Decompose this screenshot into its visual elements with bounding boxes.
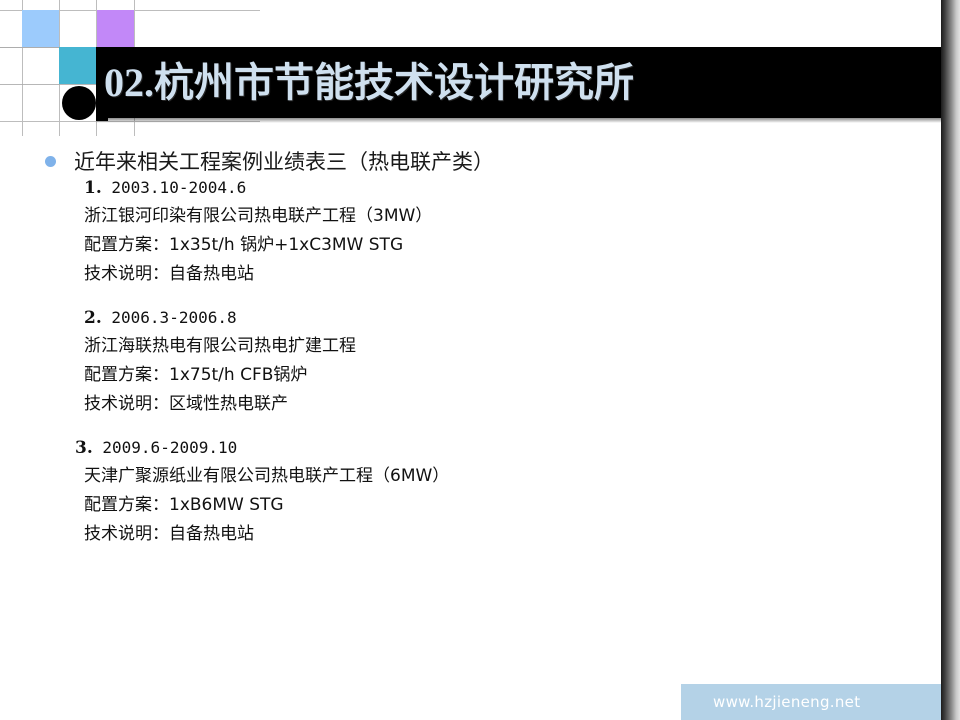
project-entry-name: 浙江银河印染有限公司热电联产工程（3MW） <box>84 202 432 231</box>
project-entry-period: 2009.6-2009.10 <box>102 438 237 457</box>
project-entry-name: 浙江海联热电有限公司热电扩建工程 <box>84 332 356 361</box>
project-entry-note: 技术说明：自备热电站 <box>84 260 432 289</box>
bullet-heading-label: 近年来相关工程案例业绩表三（热电联产类） <box>74 146 494 176</box>
project-entry-config: 配置方案：1x35t/h 锅炉+1xC3MW STG <box>84 231 432 260</box>
project-entry-config: 配置方案：1x75t/h CFB锅炉 <box>84 361 356 390</box>
decorative-circle <box>62 86 96 120</box>
title-bar-shadow <box>96 118 941 123</box>
project-entry: 3. 2009.6-2009.10 天津广聚源纸业有限公司热电联产工程（6MW）… <box>75 438 449 549</box>
project-entry-header: 1. 2003.10-2004.6 <box>84 178 432 198</box>
project-entry-note: 技术说明：区域性热电联产 <box>84 390 356 419</box>
project-entry-header: 3. 2009.6-2009.10 <box>75 438 449 458</box>
project-entry-note: 技术说明：自备热电站 <box>75 520 449 549</box>
slide-canvas: 02.杭州市节能技术设计研究所 近年来相关工程案例业绩表三（热电联产类） 1. … <box>0 0 941 720</box>
project-entry-number: 3. <box>75 438 93 458</box>
project-entry-config: 配置方案：1xB6MW STG <box>75 491 449 520</box>
bullet-heading-row: 近年来相关工程案例业绩表三（热电联产类） <box>45 146 494 176</box>
project-entry-header: 2. 2006.3-2006.8 <box>84 308 356 328</box>
footer-url: www.hzjieneng.net <box>713 684 860 720</box>
project-entry-number: 1. <box>84 178 102 198</box>
project-entry-period: 2003.10-2004.6 <box>111 178 246 197</box>
decorative-square-purple <box>97 10 134 47</box>
decorative-square-teal <box>59 47 96 84</box>
project-entry-name: 天津广聚源纸业有限公司热电联产工程（6MW） <box>75 462 449 491</box>
decorative-square-blue <box>22 10 59 47</box>
project-entry: 2. 2006.3-2006.8 浙江海联热电有限公司热电扩建工程 配置方案：1… <box>84 308 356 419</box>
slide-title: 02.杭州市节能技术设计研究所 <box>104 52 634 114</box>
project-entry-number: 2. <box>84 308 102 328</box>
bullet-dot-icon <box>45 156 56 167</box>
project-entry-period: 2006.3-2006.8 <box>111 308 236 327</box>
project-entry: 1. 2003.10-2004.6 浙江银河印染有限公司热电联产工程（3MW） … <box>84 178 432 289</box>
presentation-slide: 02.杭州市节能技术设计研究所 近年来相关工程案例业绩表三（热电联产类） 1. … <box>0 0 960 720</box>
slide-edge-shadow <box>941 0 960 720</box>
